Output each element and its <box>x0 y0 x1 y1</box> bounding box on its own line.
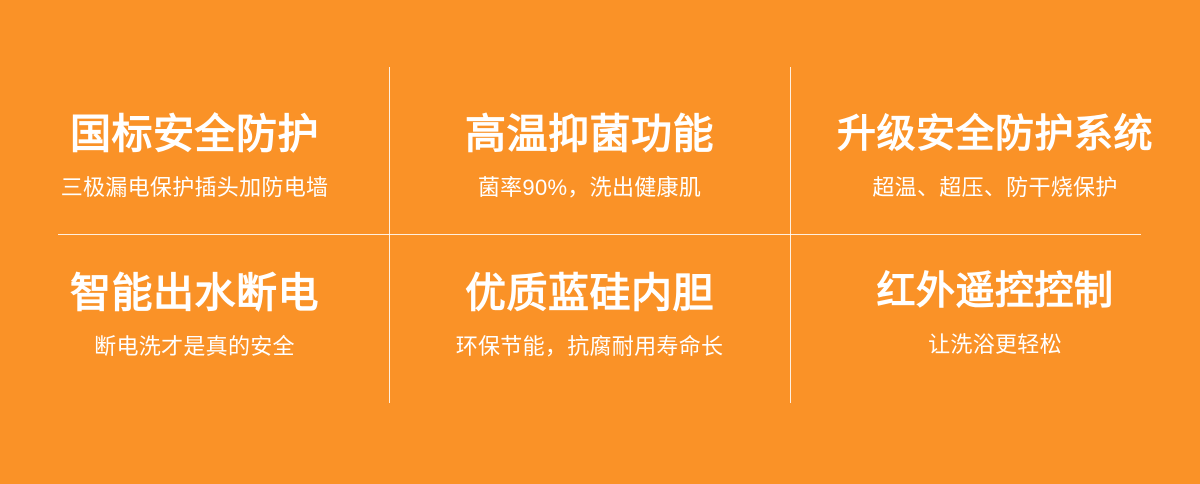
feature-cell-5: 优质蓝硅内胆 环保节能，抗腐耐用寿命长 <box>389 225 790 420</box>
feature-subtitle: 断电洗才是真的安全 <box>94 333 295 362</box>
feature-title: 升级安全防护系统 <box>837 112 1153 158</box>
feature-subtitle: 超温、超压、防干烧保护 <box>872 174 1117 203</box>
feature-title: 国标安全防护 <box>70 110 319 158</box>
feature-cell-4: 智能出水断电 断电洗才是真的安全 <box>0 225 389 420</box>
feature-grid: 国标安全防护 三极漏电保护插头加防电墙 高温抑菌功能 菌率90%，洗出健康肌 升… <box>0 0 1200 420</box>
feature-title: 高温抑菌功能 <box>465 110 714 158</box>
feature-title: 红外遥控控制 <box>876 269 1113 315</box>
feature-cell-3: 升级安全防护系统 超温、超压、防干烧保护 <box>790 0 1200 225</box>
feature-cell-1: 国标安全防护 三极漏电保护插头加防电墙 <box>0 0 389 225</box>
feature-title: 智能出水断电 <box>70 269 319 317</box>
feature-cell-6: 红外遥控控制 让洗浴更轻松 <box>790 225 1200 420</box>
feature-subtitle: 菌率90%，洗出健康肌 <box>478 174 701 203</box>
feature-subtitle: 环保节能，抗腐耐用寿命长 <box>456 333 724 362</box>
feature-subtitle: 让洗浴更轻松 <box>928 331 1062 360</box>
feature-cell-2: 高温抑菌功能 菌率90%，洗出健康肌 <box>389 0 790 225</box>
feature-subtitle: 三极漏电保护插头加防电墙 <box>61 174 329 203</box>
feature-title: 优质蓝硅内胆 <box>465 269 714 317</box>
feature-banner: 国标安全防护 三极漏电保护插头加防电墙 高温抑菌功能 菌率90%，洗出健康肌 升… <box>0 0 1200 484</box>
